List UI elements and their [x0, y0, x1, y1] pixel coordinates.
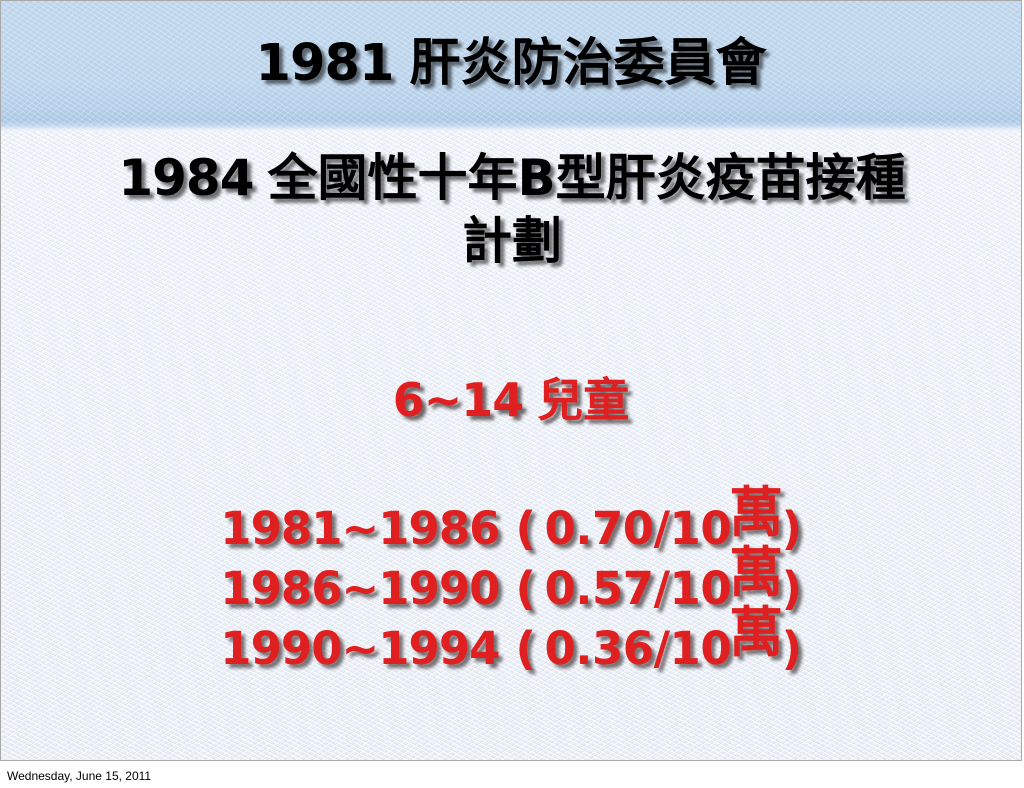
rate-value: 0.36	[545, 619, 654, 679]
rate-unit: 萬	[729, 543, 783, 603]
slide-title: 1981肝炎防治委員會	[1, 37, 1021, 91]
target-group-label: 兒童	[537, 373, 629, 427]
rate-value: 0.70	[545, 499, 654, 559]
title-label: 肝炎防治委員會	[409, 34, 766, 93]
footer-date: Wednesday, June 15, 2011	[7, 769, 151, 783]
rate-unit: 萬	[729, 603, 783, 663]
rate-denominator: /10	[654, 499, 732, 559]
rate-period: 1990~1994	[220, 619, 499, 679]
rate-row: 1986~1990 ( 0.57 /10 萬 )	[220, 556, 801, 616]
rate-paren-close: )	[782, 619, 802, 679]
rate-denominator: /10	[654, 559, 732, 619]
rate-paren-close: )	[782, 559, 802, 619]
rate-paren-open: (	[515, 559, 535, 619]
rate-row: 1981~1986 ( 0.70 /10 萬 )	[220, 496, 801, 556]
presentation-slide: 1981肝炎防治委員會 1984全國性十年B型肝炎疫苗接種 計劃 6~14兒童 …	[0, 0, 1022, 761]
rate-paren-open: (	[515, 619, 535, 679]
subtitle-year: 1984	[118, 149, 253, 207]
rate-paren-open: (	[515, 499, 535, 559]
incidence-rates-block: 1981~1986 ( 0.70 /10 萬 ) 1986~1990 ( 0.5…	[1, 496, 1021, 676]
subtitle-line-2: 計劃	[462, 212, 562, 270]
rate-row: 1990~1994 ( 0.36 /10 萬 )	[220, 616, 801, 676]
rate-unit: 萬	[729, 483, 783, 543]
rate-paren-close: )	[782, 499, 802, 559]
target-age-range: 6~14	[393, 373, 524, 427]
slide-root: 1981肝炎防治委員會 1984全國性十年B型肝炎疫苗接種 計劃 6~14兒童 …	[0, 0, 1024, 788]
rate-value: 0.57	[545, 559, 654, 619]
subtitle-line-1: 全國性十年B型肝炎疫苗接種	[268, 149, 906, 207]
rate-period: 1981~1986	[220, 499, 499, 559]
title-year: 1981	[256, 34, 394, 93]
slide-subtitle: 1984全國性十年B型肝炎疫苗接種 計劃	[9, 147, 1015, 273]
rate-period: 1986~1990	[220, 559, 499, 619]
target-group-line: 6~14兒童	[1, 375, 1021, 426]
rate-denominator: /10	[654, 619, 732, 679]
